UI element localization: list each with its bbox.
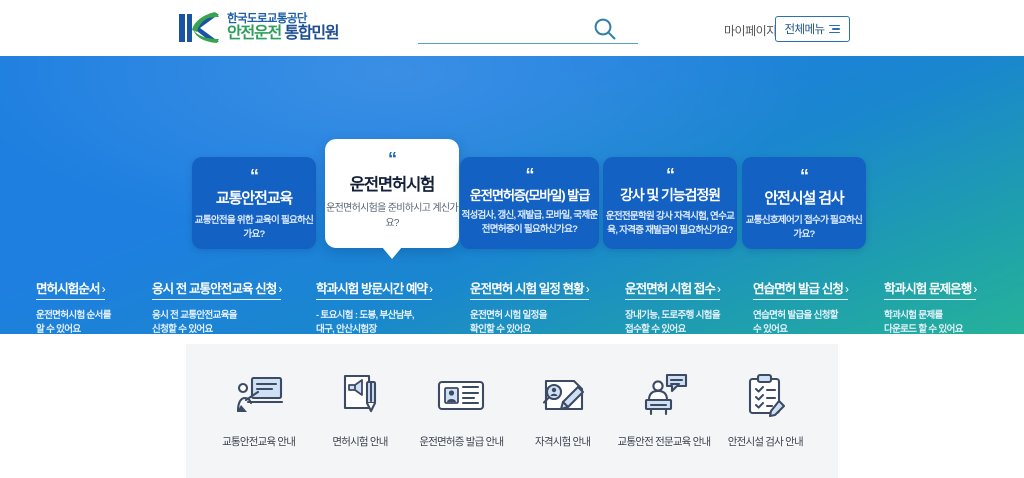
logo-service-name-part1: 안전운전 <box>227 25 281 42</box>
quick-link-desc: 운전면허시험 순서를 알 수 있어요 <box>36 309 111 334</box>
chevron-right-icon: › <box>429 282 432 296</box>
all-menu-button[interactable]: 전체메뉴 <box>775 16 850 42</box>
chevron-right-icon: › <box>278 282 281 296</box>
hero-card-desc: 교통신호제어기 접수가 필요하신가요? <box>742 214 866 241</box>
quick-link-row: 면허시험순서 › 운전면허시험 순서를 알 수 있어요 응시 전 교통안전교육 … <box>0 278 1024 334</box>
quick-link-desc: 응시 전 교통안전교육을 신청할 수 있어요 (최초 취득자에 한함) <box>152 309 281 334</box>
quick-link-label: 응시 전 교통안전교육 신청 <box>152 278 276 297</box>
quick-link-label: 학과시험 방문시간 예약 <box>316 278 427 297</box>
service-item-label: 운전면허증 발급 안내 <box>419 436 503 449</box>
site-logo[interactable]: 한국도로교통공단 안전운전 통합민원 <box>178 10 338 46</box>
hero-banner: “ 교통안전교육 교통안전을 위한 교육이 필요하신가요? “ 운전면허시험 운… <box>0 56 1024 334</box>
hero-card-driving-license-exam[interactable]: “ 운전면허시험 운전면허시험을 준비하시고 계신가요? <box>325 139 459 248</box>
hero-card-desc: 적성검사, 갱신, 재발급, 모바일, 국제운전면허증이 필요하신가요? <box>460 209 599 236</box>
quick-link-label: 운전면허 시험 일정 현황 <box>470 278 584 297</box>
quick-link-title[interactable]: 연습면허 발급 신청 › <box>753 278 848 300</box>
hero-card-title: 운전면허증(모바일) 발급 <box>460 185 599 204</box>
service-item-label: 교통안전교육 안내 <box>222 436 295 449</box>
quick-link-label: 면허시험순서 <box>36 278 100 297</box>
quick-link-title[interactable]: 학과시험 문제은행 › <box>884 278 976 300</box>
service-item-traffic-safety-education[interactable]: 교통안전교육 안내 <box>208 370 309 449</box>
service-item-license-issuance-guide[interactable]: 운전면허증 발급 안내 <box>411 370 512 449</box>
quick-link-label: 학과시험 문제은행 <box>884 278 971 297</box>
quick-link-exam-schedule[interactable]: 운전면허 시험 일정 현황 › 운전면허 시험 일정을 확인할 수 있어요 <box>470 278 589 334</box>
service-item-label: 교통안전 전문교육 안내 <box>618 436 711 449</box>
service-item-license-exam-guide[interactable]: 면허시험 안내 <box>309 370 410 449</box>
logo-service-name-part2: 통합민원 <box>284 25 338 42</box>
chevron-right-icon: › <box>717 282 720 296</box>
quick-link-title[interactable]: 면허시험순서 › <box>36 278 105 300</box>
hero-card-row: “ 교통안전교육 교통안전을 위한 교육이 필요하신가요? “ 운전면허시험 운… <box>0 56 1024 206</box>
quick-link-title[interactable]: 응시 전 교통안전교육 신청 › <box>152 278 281 300</box>
service-item-label: 자격시험 안내 <box>535 436 590 449</box>
hamburger-menu-icon <box>829 25 840 34</box>
quote-mark-icon: “ <box>603 168 737 182</box>
mypage-link[interactable]: 마이페이지 <box>724 22 777 39</box>
service-item-qualification-exam-guide[interactable]: 자격시험 안내 <box>512 370 613 449</box>
quick-link-desc: 운전면허 시험 일정을 확인할 수 있어요 <box>470 309 589 334</box>
hero-card-title: 운전면허시험 <box>325 171 459 195</box>
quote-mark-icon: “ <box>742 169 866 183</box>
hero-card-desc: 교통안전을 위한 교육이 필요하신가요? <box>192 214 316 241</box>
quote-mark-icon: “ <box>460 168 599 182</box>
service-item-professional-education-guide[interactable]: 교통안전 전문교육 안내 <box>613 370 714 449</box>
site-header: 한국도로교통공단 안전운전 통합민원 마이페이지 전체메뉴 <box>0 0 1024 56</box>
service-item-label: 면허시험 안내 <box>332 436 387 449</box>
quick-link-pre-exam-education[interactable]: 응시 전 교통안전교육 신청 › 응시 전 교통안전교육을 신청할 수 있어요 … <box>152 278 281 334</box>
kotsa-k-logo-icon <box>178 10 220 46</box>
chevron-right-icon: › <box>845 282 848 296</box>
logo-text-block: 한국도로교통공단 안전운전 통합민원 <box>227 13 338 43</box>
service-item-facility-inspection-guide[interactable]: 안전시설 검사 안내 <box>715 370 816 449</box>
quote-mark-icon: “ <box>325 152 459 166</box>
quick-link-desc: - 토요시험 : 도봉, 부산남부, 대구, 안산시험장 <box>316 309 432 334</box>
hero-card-license-issuance[interactable]: “ 운전면허증(모바일) 발급 적성검사, 갱신, 재발급, 모바일, 국제운전… <box>460 157 599 249</box>
logo-org-name: 한국도로교통공단 <box>227 13 338 25</box>
quick-link-desc: 학과시험 문제를 다운로드 할 수 있어요 <box>884 309 976 334</box>
hero-card-title: 안전시설 검사 <box>742 187 866 208</box>
quick-link-written-exam-reservation[interactable]: 학과시험 방문시간 예약 › - 토요시험 : 도봉, 부산남부, 대구, 안산… <box>316 278 432 334</box>
presenter-whiteboard-icon <box>232 370 286 420</box>
hero-card-title: 교통안전교육 <box>192 187 316 208</box>
chevron-right-icon: › <box>586 282 589 296</box>
quick-link-label: 운전면허 시험 접수 <box>625 278 715 297</box>
certificate-magnifier-pencil-icon <box>536 370 590 420</box>
quick-link-exam-application[interactable]: 운전면허 시험 접수 › 장내기능, 도로주행 시험을 접수할 수 있어요 <box>625 278 720 334</box>
hero-card-instructor-examiner[interactable]: “ 강사 및 기능검정원 운전전문학원 강사 자격시험, 연수교육, 자격증 재… <box>603 157 737 249</box>
quick-link-title[interactable]: 운전면허 시험 접수 › <box>625 278 720 300</box>
document-pencil-icon <box>333 370 387 420</box>
quick-link-exam-order[interactable]: 면허시험순서 › 운전면허시험 순서를 알 수 있어요 <box>36 278 111 334</box>
id-card-icon <box>434 370 488 420</box>
service-shortcut-panel: 교통안전교육 안내 면허시험 안내 <box>186 344 838 478</box>
hero-card-desc: 운전면허시험을 준비하시고 계신가요? <box>325 202 459 230</box>
quick-link-title[interactable]: 운전면허 시험 일정 현황 › <box>470 278 589 300</box>
quote-mark-icon: “ <box>192 169 316 183</box>
chevron-right-icon: › <box>973 282 976 296</box>
quick-link-desc: 장내기능, 도로주행 시험을 접수할 수 있어요 <box>625 309 720 334</box>
service-item-label: 안전시설 검사 안내 <box>728 436 803 449</box>
quick-link-desc: 연습면허 발급을 신청할 수 있어요 <box>753 309 848 334</box>
quick-link-question-bank[interactable]: 학과시험 문제은행 › 학과시험 문제를 다운로드 할 수 있어요 <box>884 278 976 334</box>
hero-card-title: 강사 및 기능검정원 <box>603 185 737 205</box>
all-menu-label: 전체메뉴 <box>785 21 825 37</box>
quick-link-title[interactable]: 학과시험 방문시간 예약 › <box>316 278 432 300</box>
lecturer-speech-icon <box>637 370 691 420</box>
quick-link-practice-license[interactable]: 연습면허 발급 신청 › 연습면허 발급을 신청할 수 있어요 <box>753 278 848 334</box>
logo-service-name: 안전운전 통합민원 <box>227 26 338 43</box>
hero-card-desc: 운전전문학원 강사 자격시험, 연수교육, 자격증 재발급이 필요하신가요? <box>603 210 737 237</box>
chevron-right-icon: › <box>102 282 105 296</box>
clipboard-checklist-icon <box>738 370 792 420</box>
hero-card-traffic-safety-education[interactable]: “ 교통안전교육 교통안전을 위한 교육이 필요하신가요? <box>192 157 316 249</box>
hero-card-safety-facility-inspection[interactable]: “ 안전시설 검사 교통신호제어기 접수가 필요하신가요? <box>742 157 866 249</box>
search-icon[interactable] <box>592 16 618 42</box>
quick-link-label: 연습면허 발급 신청 <box>753 278 843 297</box>
